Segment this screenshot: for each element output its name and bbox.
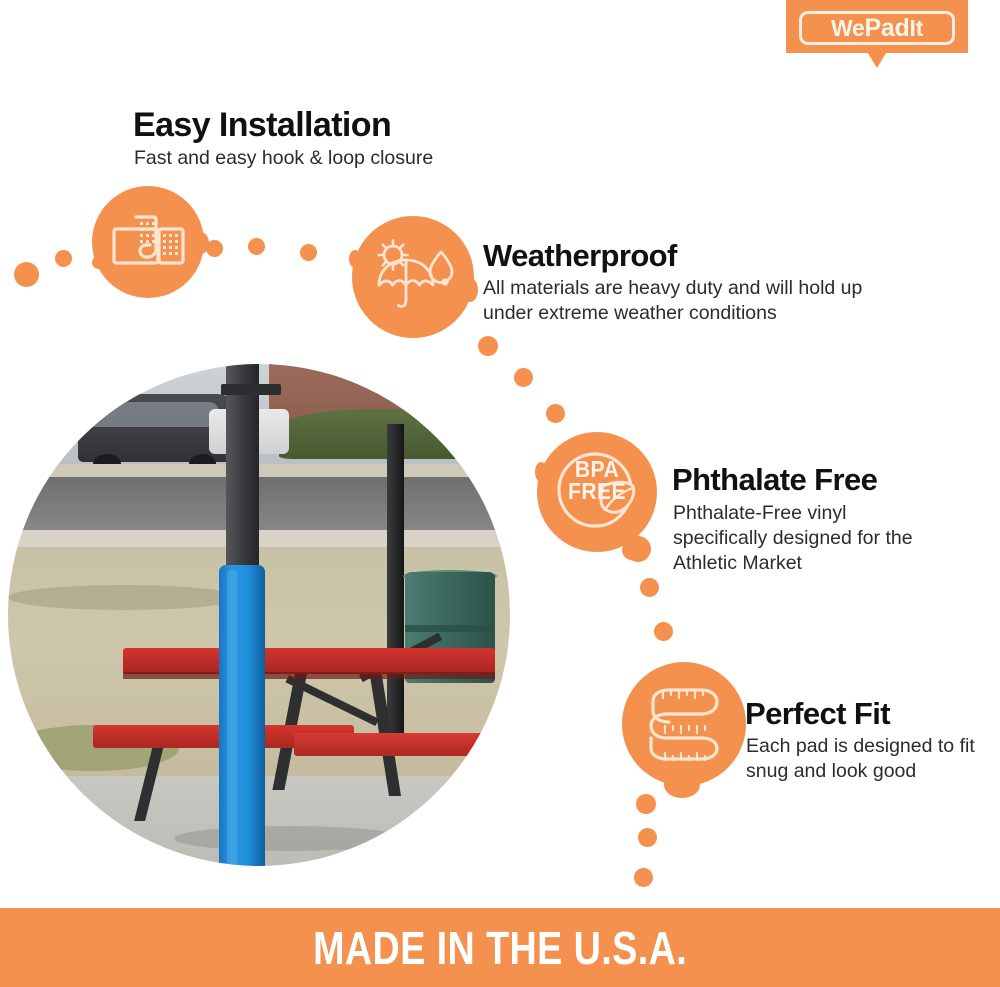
feature-description-easy-installation: Fast and easy hook & loop closure: [134, 146, 554, 171]
logo-wordmark: WePadIt: [831, 16, 923, 41]
measuring-tape-icon: [622, 662, 746, 786]
trail-dot: [636, 794, 656, 814]
brand-logo[interactable]: WePadIt: [786, 0, 968, 68]
circle-nub: [625, 536, 651, 562]
feature-title-phthalate-free: Phthalate Free: [672, 464, 877, 495]
trail-dot: [634, 868, 653, 887]
trail-dot: [14, 262, 39, 287]
logo-word-it: It: [910, 15, 923, 41]
feature-description-weatherproof: All materials are heavy duty and will ho…: [483, 276, 913, 327]
trail-dot: [514, 368, 533, 387]
infographic-canvas: WePadIt Easy Installation Fast and easy …: [0, 0, 1000, 987]
trail-dot: [546, 404, 565, 423]
trail-dot: [55, 250, 72, 267]
trail-dot: [654, 622, 673, 641]
logo-word-pad: Pad: [865, 14, 910, 42]
trail-dot: [300, 244, 317, 261]
trail-dot: [478, 336, 498, 356]
circle-nub: [664, 772, 700, 798]
circle-nub: [349, 250, 361, 268]
circle-nub: [462, 278, 478, 302]
trail-dot: [638, 828, 657, 847]
trail-dot: [248, 238, 265, 255]
circle-nub: [193, 232, 209, 254]
feature-description-perfect-fit: Each pad is designed to fit snug and loo…: [746, 734, 976, 785]
photo-scene: [8, 364, 510, 866]
feature-description-phthalate-free: Phthalate-Free vinyl specifically design…: [673, 501, 943, 577]
circle-nub: [535, 462, 547, 482]
feature-title-easy-installation: Easy Installation: [133, 108, 391, 142]
hook-and-loop-icon: [92, 186, 204, 298]
logo-word-we: We: [831, 15, 865, 41]
made-in-usa-banner: MADE IN THE U.S.A.: [0, 908, 1000, 987]
product-photo: [8, 364, 510, 866]
feature-title-perfect-fit: Perfect Fit: [745, 698, 890, 729]
feature-title-weatherproof: Weatherproof: [483, 240, 677, 271]
blue-pole-pad: [219, 565, 265, 866]
made-in-usa-text: MADE IN THE U.S.A.: [313, 921, 687, 975]
bpa-free-leaf-icon: BPA FREE: [537, 432, 657, 552]
umbrella-sun-rain-icon: [352, 216, 474, 338]
logo-outline-box: WePadIt: [799, 11, 955, 45]
trail-dot: [640, 578, 659, 597]
